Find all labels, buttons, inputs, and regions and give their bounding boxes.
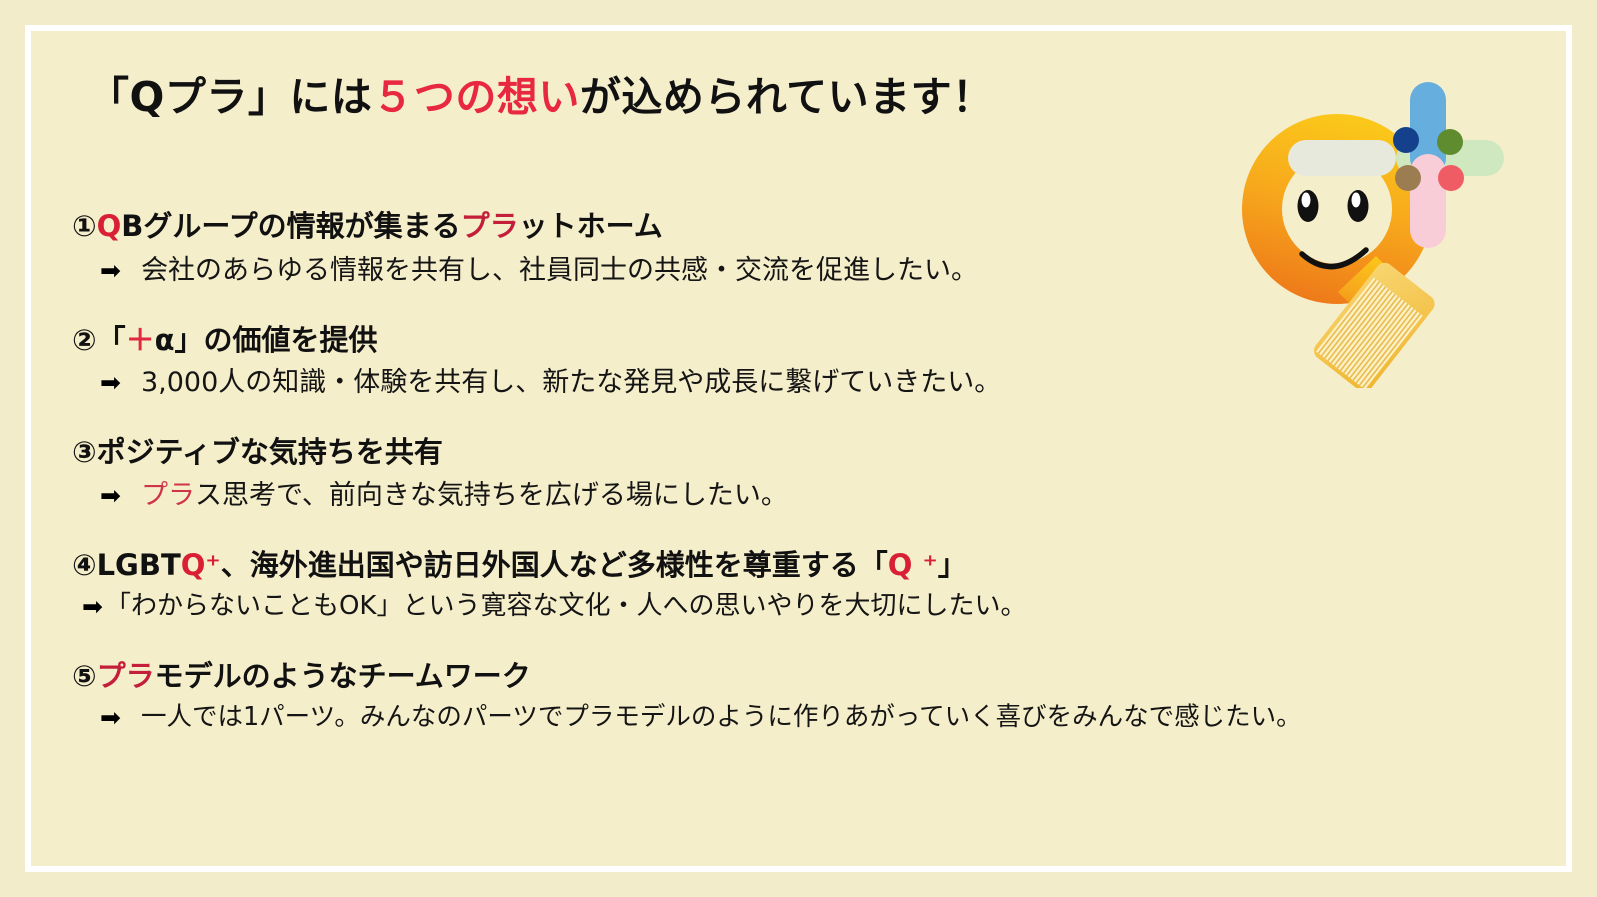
item-3-head-a: ポジティブな気持ちを共有 <box>97 435 443 469</box>
item-3-subtext-row: ➡プラス思考で、前向きな気持ちを広げる場にしたい。 <box>72 478 1502 513</box>
title-part-2: が込められています！ <box>580 73 994 121</box>
title-part-1: 「Qプラ」には <box>88 73 372 121</box>
item-5-subtext: 一人では1パーツ。みんなのパーツでプラモデルのように作りあがっていく喜びをみんな… <box>141 701 1302 734</box>
list-item: ⑤プラモデルのようなチームワーク ➡一人では1パーツ。みんなのパーツでプラモデル… <box>72 658 1502 734</box>
item-1-number: ① <box>72 209 97 243</box>
item-5-head-pura: プラ <box>97 659 155 693</box>
arrow-right-icon: ➡ <box>100 705 121 730</box>
item-2-head-plus: ＋ <box>126 323 155 357</box>
item-3-subtext: ス思考で、前向きな気持ちを広げる場にしたい。 <box>195 478 788 513</box>
list-item: ③ポジティブな気持ちを共有 ➡プラス思考で、前向きな気持ちを広げる場にしたい。 <box>72 434 1502 512</box>
mascot-face <box>1298 190 1369 267</box>
item-4-head-e: 」 <box>938 548 967 582</box>
dot-navy <box>1393 127 1419 153</box>
item-3-number: ③ <box>72 435 97 469</box>
item-4-heading: ④LGBTQ⁺、海外進出国や訪日外国人など多様性を尊重する「Q ⁺」 <box>72 547 1502 584</box>
item-5-head-b: モデルのようなチームワーク <box>155 659 531 693</box>
item-4-subtext: 「わからないこともOK」という寛容な文化・人への思いやりを大切にしたい。 <box>105 590 1027 624</box>
item-1-subtext: 会社のあらゆる情報を共有し、社員同士の共感・交流を促進したい。 <box>141 253 978 288</box>
list-item: ④LGBTQ⁺、海外進出国や訪日外国人など多様性を尊重する「Q ⁺」 ➡「わから… <box>72 547 1502 624</box>
dot-green <box>1437 129 1463 155</box>
item-4-head-qplus: Q⁺ <box>181 548 221 582</box>
item-3-heading: ③ポジティブな気持ちを共有 <box>72 434 1502 471</box>
item-2-number: ② <box>72 323 97 357</box>
page-title: 「Qプラ」には５つの想いが込められています！ <box>88 74 994 121</box>
item-2-subtext: 3,000人の知識・体験を共有し、新たな発見や成長に繋げていきたい。 <box>141 365 1001 400</box>
item-3-subtext-pura: プラ <box>141 478 195 513</box>
item-5-heading: ⑤プラモデルのようなチームワーク <box>72 658 1502 695</box>
item-5-subtext-row: ➡一人では1パーツ。みんなのパーツでプラモデルのように作りあがっていく喜びをみん… <box>72 701 1502 734</box>
item-2-head-c: α」の価値を提供 <box>155 323 378 357</box>
arrow-right-icon: ➡ <box>100 258 121 283</box>
item-4-head-qplus-2: Q ⁺ <box>888 548 938 582</box>
item-5-number: ⑤ <box>72 659 97 693</box>
title-highlight: ５つの想い <box>372 73 580 121</box>
dot-red <box>1438 165 1464 191</box>
item-1-head-d: ットホーム <box>519 209 663 243</box>
qplus-logo <box>1162 78 1512 388</box>
item-2-head-a: 「 <box>97 323 126 357</box>
slide-root: 「Qプラ」には５つの想いが込められています！ ①QBグループの情報が集まるプラッ… <box>0 0 1597 897</box>
item-1-head-q: Q <box>97 209 122 243</box>
arrow-right-icon: ➡ <box>100 370 121 395</box>
item-4-number: ④ <box>72 548 97 582</box>
item-4-subtext-row: ➡「わからないこともOK」という寛容な文化・人への思いやりを大切にしたい。 <box>72 590 1502 624</box>
item-1-head-pura: プラ <box>461 209 519 243</box>
qplus-logo-svg <box>1162 78 1512 388</box>
arrow-right-icon: ➡ <box>82 594 103 619</box>
dot-brown <box>1395 165 1421 191</box>
arrow-right-icon: ➡ <box>100 483 121 508</box>
item-4-head-c: 、海外進出国や訪日外国人など多様性を尊重する「 <box>221 548 888 582</box>
item-4-head-a: LGBT <box>97 548 181 582</box>
item-1-head-b: Bグループの情報が集まる <box>121 209 460 243</box>
